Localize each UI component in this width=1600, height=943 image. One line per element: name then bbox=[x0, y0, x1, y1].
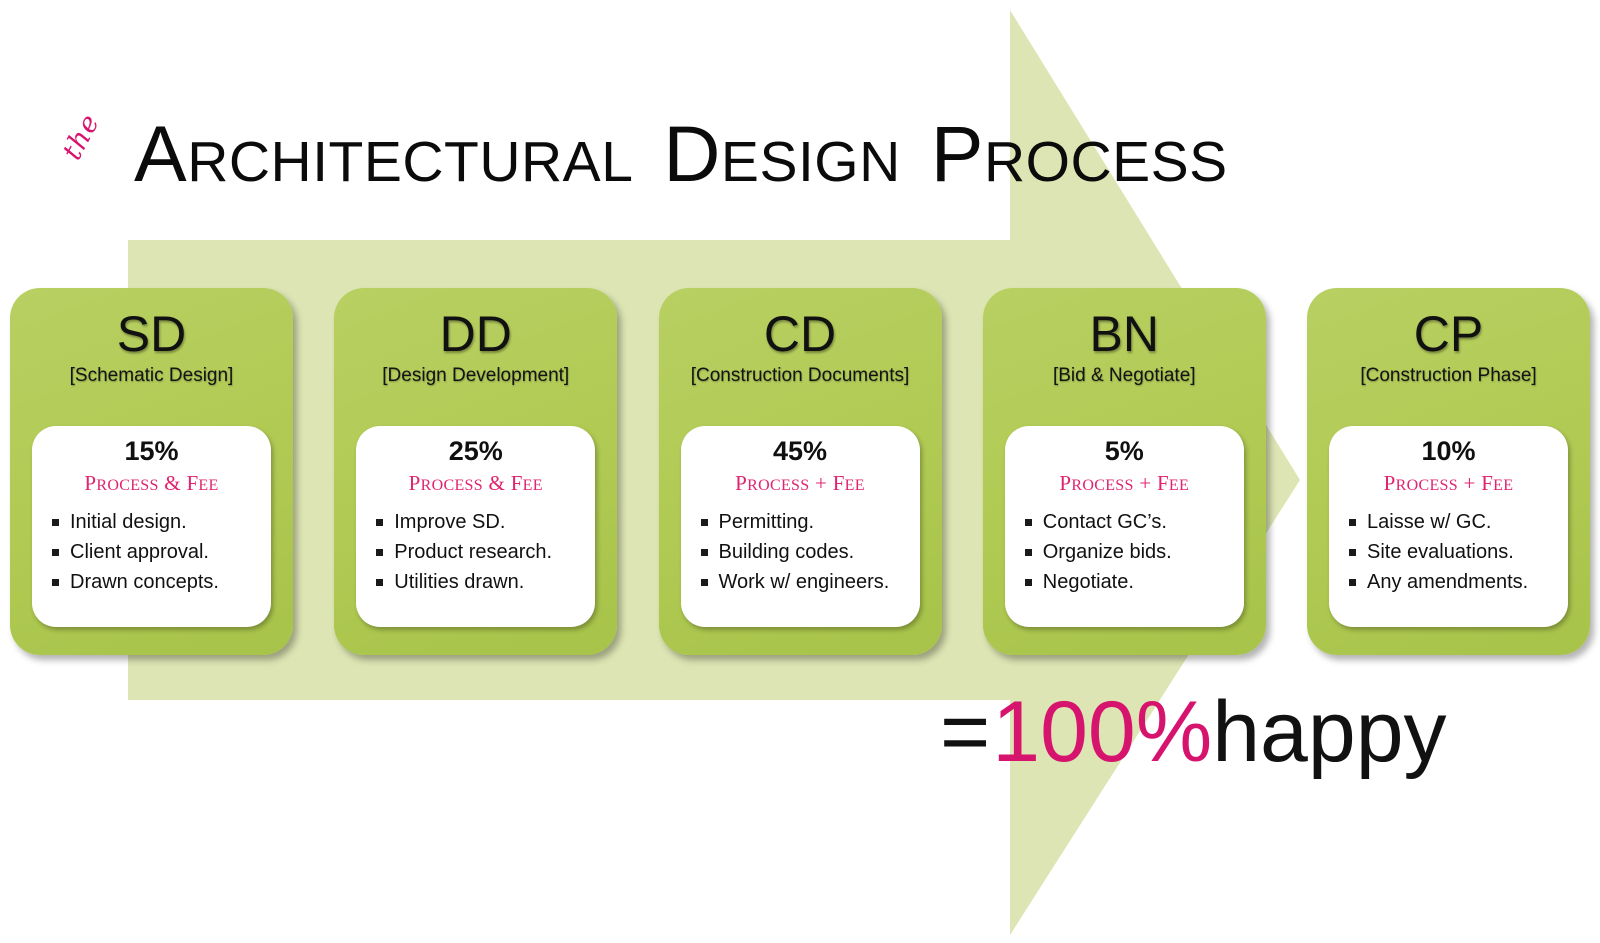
fee-rocess: ROCESS bbox=[1396, 477, 1458, 494]
phase-code: CD bbox=[764, 306, 836, 362]
list-item: Work w/ engineers. bbox=[701, 567, 890, 597]
phase-bullet-list: Permitting. Building codes. Work w/ engi… bbox=[685, 507, 890, 597]
phase-detail-box: 10% PROCESS + FEE Laisse w/ GC. Site eva… bbox=[1329, 426, 1568, 627]
phase-fee-label: PROCESS + FEE bbox=[1059, 472, 1189, 497]
fee-p: P bbox=[409, 471, 421, 495]
phase-fee-label: PROCESS + FEE bbox=[1384, 472, 1514, 497]
phase-detail-box: 25% PROCESS & FEE Improve SD. Product re… bbox=[356, 426, 595, 627]
phase-fee-label: PROCESS & FEE bbox=[409, 472, 543, 497]
phase-name: [Bid & Negotiate] bbox=[1053, 364, 1196, 388]
fee-f: F bbox=[1157, 471, 1169, 495]
list-item: Organize bids. bbox=[1025, 537, 1172, 567]
phase-percent: 5% bbox=[1105, 436, 1144, 466]
fee-p: P bbox=[84, 471, 96, 495]
phase-bullet-list: Laisse w/ GC. Site evaluations. Any amen… bbox=[1333, 507, 1528, 597]
phase-card-cp[interactable]: CP [Construction Phase] 10% PROCESS + FE… bbox=[1307, 288, 1590, 655]
phase-percent: 45% bbox=[773, 436, 827, 466]
footer-total: =100%happy bbox=[940, 686, 1447, 778]
footer-word: happy bbox=[1212, 684, 1446, 780]
title-word-design-cap: D bbox=[663, 109, 721, 198]
list-item: Drawn concepts. bbox=[52, 567, 219, 597]
phase-bullet-list: Contact GC’s. Organize bids. Negotiate. bbox=[1009, 507, 1172, 597]
fee-rocess: ROCESS bbox=[421, 477, 483, 494]
infographic-canvas: the ARCHITECTURAL DESIGN PROCESS SD [Sch… bbox=[0, 0, 1600, 943]
list-item: Initial design. bbox=[52, 507, 219, 537]
phase-card-cd[interactable]: CD [Construction Documents] 45% PROCESS … bbox=[659, 288, 942, 655]
list-item: Negotiate. bbox=[1025, 567, 1172, 597]
list-item: Client approval. bbox=[52, 537, 219, 567]
phase-code: SD bbox=[117, 306, 186, 362]
fee-p: P bbox=[1059, 471, 1071, 495]
list-item: Any amendments. bbox=[1349, 567, 1528, 597]
phase-name: [Schematic Design] bbox=[70, 364, 234, 388]
title-space-2 bbox=[901, 109, 931, 198]
phase-code: BN bbox=[1090, 306, 1159, 362]
list-item: Utilities drawn. bbox=[376, 567, 552, 597]
fee-sep: + bbox=[809, 471, 832, 495]
phase-detail-box: 15% PROCESS & FEE Initial design. Client… bbox=[32, 426, 271, 627]
fee-ee: EE bbox=[1493, 477, 1513, 494]
list-item: Laisse w/ GC. bbox=[1349, 507, 1528, 537]
phase-card-dd[interactable]: DD [Design Development] 25% PROCESS & FE… bbox=[334, 288, 617, 655]
footer-percent: 100% bbox=[992, 684, 1212, 780]
fee-p: P bbox=[735, 471, 747, 495]
footer-equals: = bbox=[940, 684, 992, 780]
phase-percent: 25% bbox=[449, 436, 503, 466]
fee-ee: EE bbox=[523, 477, 543, 494]
fee-rocess: ROCESS bbox=[747, 477, 809, 494]
phase-percent: 15% bbox=[124, 436, 178, 466]
fee-sep: & bbox=[483, 471, 511, 495]
phase-bullet-list: Initial design. Client approval. Drawn c… bbox=[36, 507, 219, 597]
list-item: Permitting. bbox=[701, 507, 890, 537]
phase-cards-row: SD [Schematic Design] 15% PROCESS & FEE … bbox=[10, 288, 1590, 658]
fee-f: F bbox=[511, 471, 523, 495]
phase-percent: 10% bbox=[1421, 436, 1475, 466]
title-word-architectural-rest: RCHITECTURAL bbox=[187, 130, 633, 194]
fee-f: F bbox=[186, 471, 198, 495]
title-main-text: ARCHITECTURAL DESIGN PROCESS bbox=[134, 112, 1228, 204]
list-item: Improve SD. bbox=[376, 507, 552, 537]
fee-sep: + bbox=[1134, 471, 1157, 495]
fee-ee: EE bbox=[1169, 477, 1189, 494]
phase-detail-box: 45% PROCESS + FEE Permitting. Building c… bbox=[681, 426, 920, 627]
title-word-process-rest: ROCESS bbox=[984, 130, 1228, 194]
phase-card-bn[interactable]: BN [Bid & Negotiate] 5% PROCESS + FEE Co… bbox=[983, 288, 1266, 655]
phase-code: CP bbox=[1414, 306, 1483, 362]
fee-ee: EE bbox=[845, 477, 865, 494]
title-word-process-cap: P bbox=[931, 109, 984, 198]
phase-name: [Design Development] bbox=[382, 364, 569, 388]
phase-bullet-list: Improve SD. Product research. Utilities … bbox=[360, 507, 552, 597]
phase-name: [Construction Documents] bbox=[691, 364, 910, 388]
title-word-design-rest: ESIGN bbox=[721, 130, 901, 194]
fee-sep: & bbox=[159, 471, 187, 495]
phase-code: DD bbox=[440, 306, 512, 362]
title-word-architectural-cap: A bbox=[134, 109, 187, 198]
fee-f: F bbox=[833, 471, 845, 495]
list-item: Contact GC’s. bbox=[1025, 507, 1172, 537]
list-item: Building codes. bbox=[701, 537, 890, 567]
phase-detail-box: 5% PROCESS + FEE Contact GC’s. Organize … bbox=[1005, 426, 1244, 627]
fee-sep: + bbox=[1458, 471, 1481, 495]
phase-name: [Construction Phase] bbox=[1360, 364, 1536, 388]
fee-rocess: ROCESS bbox=[1071, 477, 1133, 494]
list-item: Product research. bbox=[376, 537, 552, 567]
title-space-1 bbox=[633, 109, 663, 198]
list-item: Site evaluations. bbox=[1349, 537, 1528, 567]
phase-fee-label: PROCESS & FEE bbox=[84, 472, 218, 497]
phase-fee-label: PROCESS + FEE bbox=[735, 472, 865, 497]
phase-card-sd[interactable]: SD [Schematic Design] 15% PROCESS & FEE … bbox=[10, 288, 293, 655]
fee-ee: EE bbox=[198, 477, 218, 494]
fee-p: P bbox=[1384, 471, 1396, 495]
fee-f: F bbox=[1481, 471, 1493, 495]
fee-rocess: ROCESS bbox=[96, 477, 158, 494]
